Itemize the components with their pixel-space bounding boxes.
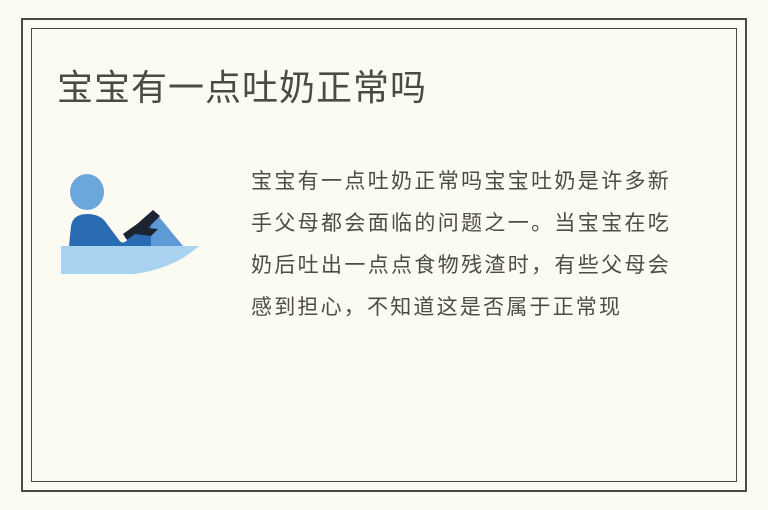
article-body-row: 宝宝有一点吐奶正常吗宝宝吐奶是许多新手父母都会面临的问题之一。当宝宝在吃奶后吐出…	[57, 160, 717, 328]
article-body-text: 宝宝有一点吐奶正常吗宝宝吐奶是许多新手父母都会面临的问题之一。当宝宝在吃奶后吐出…	[217, 160, 671, 328]
article-content: 宝宝有一点吐奶正常吗 宝宝有一点吐奶正常吗宝宝吐奶是许多新手父母都会面临的问题之…	[31, 28, 737, 482]
person-in-boat-icon	[57, 168, 205, 280]
illustration-container	[57, 160, 217, 280]
figure-head-shape	[70, 174, 104, 210]
article-page: 宝宝有一点吐奶正常吗 宝宝有一点吐奶正常吗宝宝吐奶是许多新手父母都会面临的问题之…	[0, 0, 768, 510]
page-title: 宝宝有一点吐奶正常吗	[57, 66, 427, 110]
boat-wave-shape	[61, 246, 199, 274]
